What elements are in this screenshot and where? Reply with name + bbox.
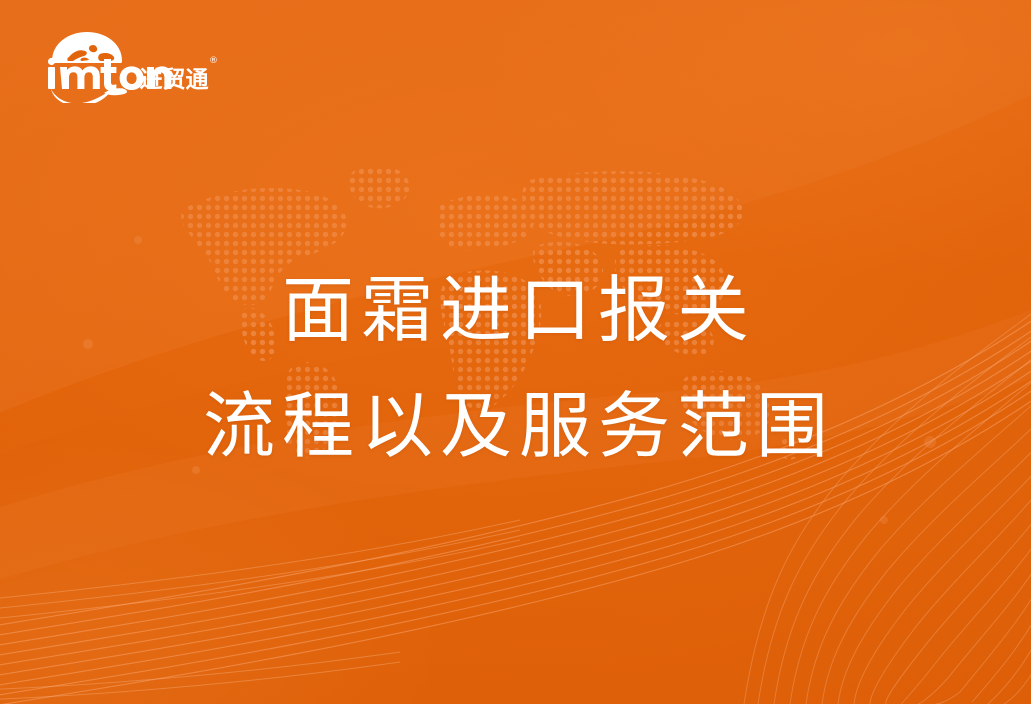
swoosh-ribbon-icon (51, 88, 127, 103)
promo-banner: 进贸通 ® 面霜进口报关 流程以及服务范围 (0, 0, 1031, 704)
logo-cn-wordmark: 进贸通 (140, 67, 209, 93)
world-map-dots (150, 140, 810, 470)
registered-mark-icon: ® (209, 56, 218, 66)
globe-dome-icon (52, 32, 122, 63)
brand-logo[interactable]: 进贸通 ® (38, 27, 218, 103)
